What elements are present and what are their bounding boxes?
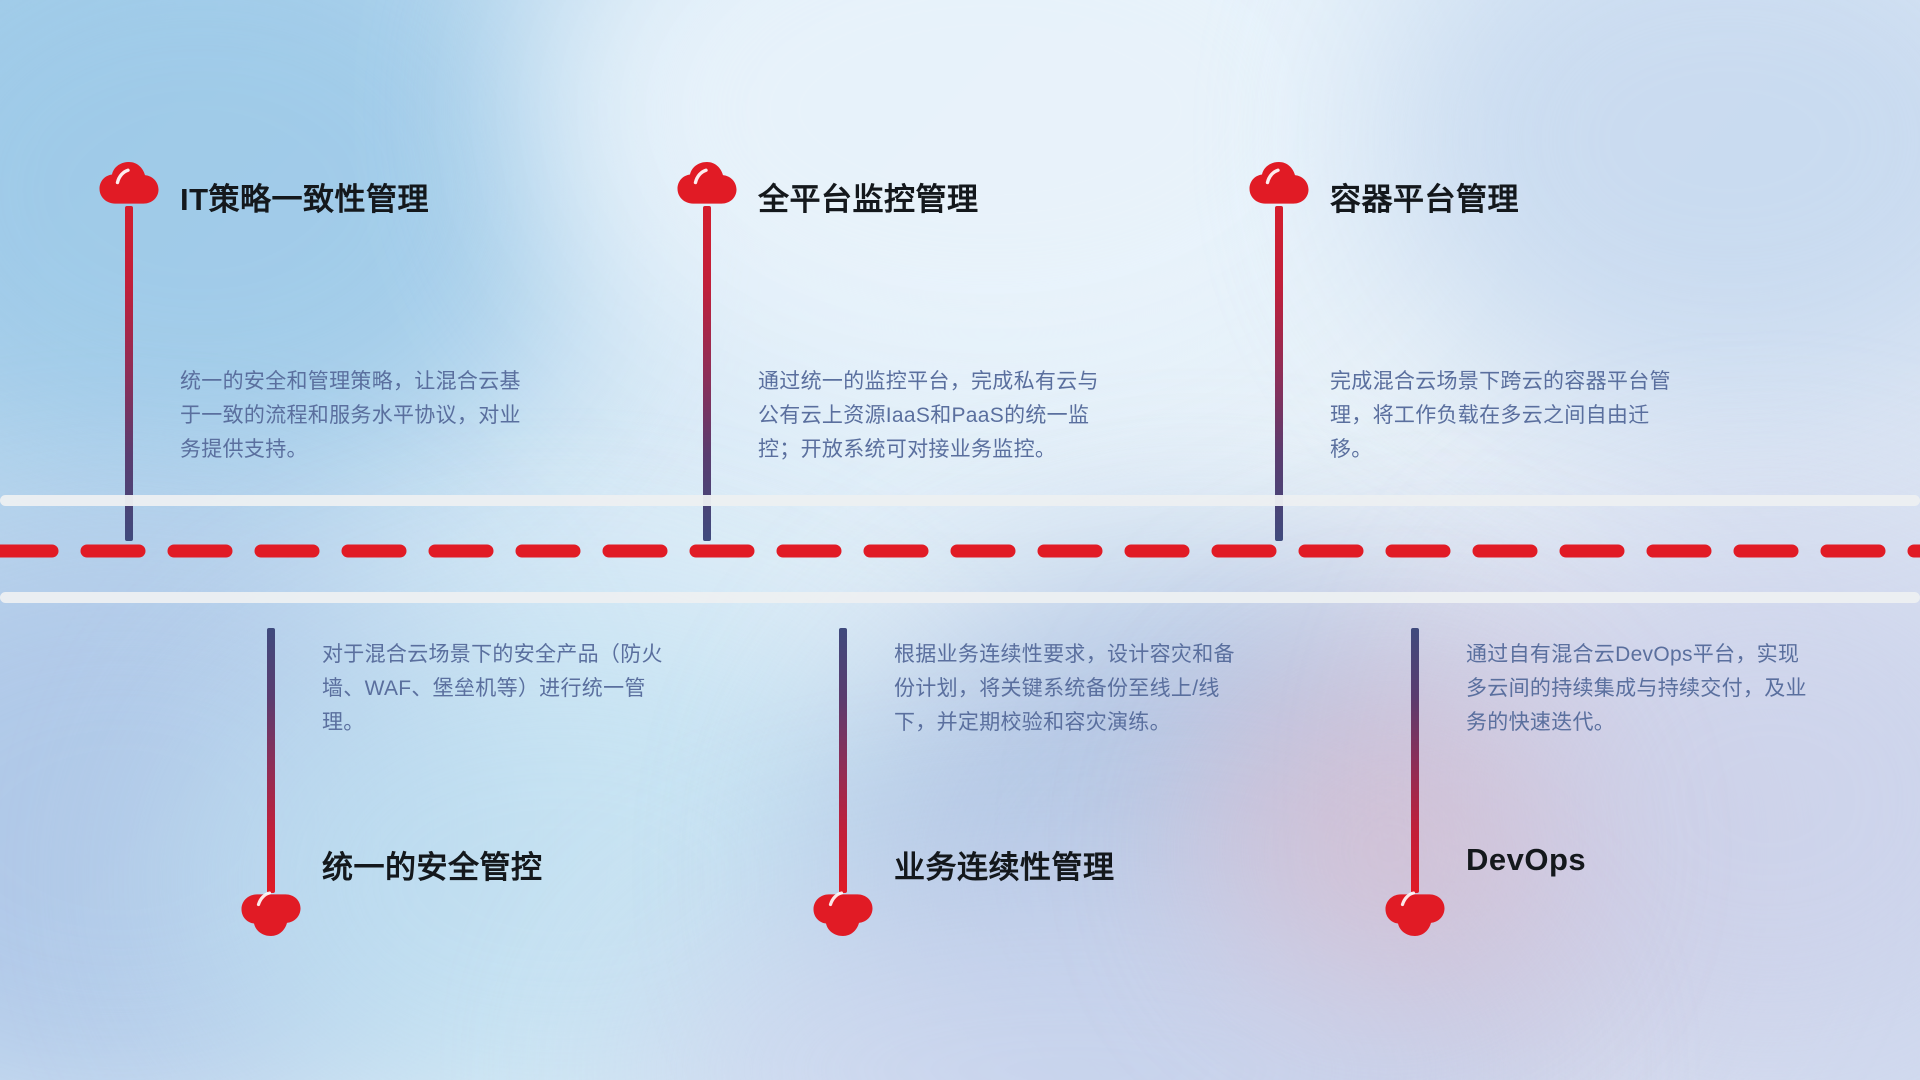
card-body: 对于混合云场景下的安全产品（防火墙、WAF、堡垒机等）进行统一管理。 <box>322 638 672 740</box>
connector-stem <box>267 628 275 893</box>
cloud-icon <box>240 888 302 938</box>
background-blob <box>540 0 1440 420</box>
divider-rail-bottom <box>0 592 1920 603</box>
card-body: 统一的安全和管理策略，让混合云基于一致的流程和服务水平协议，对业务提供支持。 <box>180 365 530 467</box>
card-heading: IT策略一致性管理 <box>180 174 429 219</box>
divider-dashed-line <box>0 544 1920 558</box>
connector-stem <box>125 206 133 541</box>
connector-stem <box>703 206 711 541</box>
connector-stem <box>839 628 847 893</box>
cloud-icon <box>676 160 738 210</box>
infographic-canvas: IT策略一致性管理 统一的安全和管理策略，让混合云基于一致的流程和服务水平协议，… <box>0 0 1920 1080</box>
cloud-icon <box>98 160 160 210</box>
cloud-icon <box>1384 888 1446 938</box>
divider-rail-top <box>0 495 1920 506</box>
card-heading: 全平台监控管理 <box>758 174 979 219</box>
card-heading: DevOps <box>1466 842 1586 878</box>
card-body: 通过自有混合云DevOps平台，实现多云间的持续集成与持续交付，及业务的快速迭代… <box>1466 638 1816 740</box>
cloud-icon <box>812 888 874 938</box>
connector-stem <box>1411 628 1419 893</box>
card-heading: 容器平台管理 <box>1330 174 1519 219</box>
card-body: 完成混合云场景下跨云的容器平台管理，将工作负载在多云之间自由迁移。 <box>1330 365 1680 467</box>
background-blob <box>1460 520 1920 1080</box>
card-heading: 统一的安全管控 <box>322 842 543 887</box>
card-body: 通过统一的监控平台，完成私有云与公有云上资源IaaS和PaaS的统一监控；开放系… <box>758 365 1108 467</box>
card-heading: 业务连续性管理 <box>894 842 1115 887</box>
background-blob <box>0 520 500 1080</box>
card-body: 根据业务连续性要求，设计容灾和备份计划，将关键系统备份至线上/线下，并定期校验和… <box>894 638 1244 740</box>
connector-stem <box>1275 206 1283 541</box>
cloud-icon <box>1248 160 1310 210</box>
